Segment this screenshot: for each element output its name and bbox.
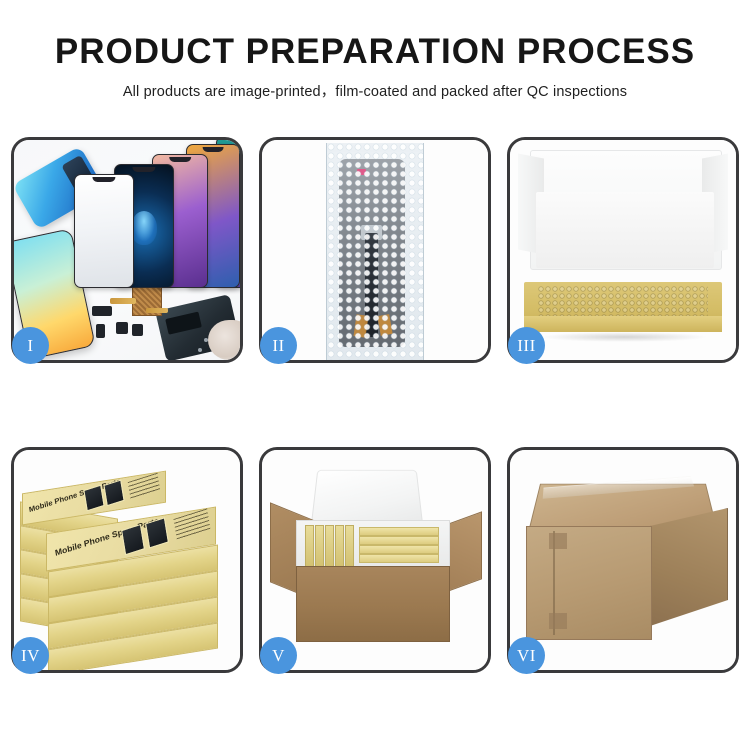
sim-tray-part bbox=[96, 324, 105, 338]
bubble-wrapped-contents bbox=[538, 286, 708, 316]
carton-front-face bbox=[526, 526, 652, 640]
box-shadow bbox=[540, 332, 708, 342]
step-badge-4: IV bbox=[12, 637, 49, 674]
step-panel-1: I bbox=[11, 137, 243, 363]
bubble-wrap-bag bbox=[326, 143, 424, 360]
step-badge-6: VI bbox=[508, 637, 545, 674]
step-badge-3: III bbox=[508, 327, 545, 364]
step-badge-2: II bbox=[260, 327, 297, 364]
bubble-texture bbox=[327, 143, 423, 360]
carton-side-face bbox=[650, 508, 728, 626]
tray-front-panel bbox=[524, 316, 722, 332]
packed-box bbox=[315, 525, 324, 567]
box-stack: Mobile Phone Spare Parts Mobile Phone Sp… bbox=[16, 464, 240, 664]
notch-icon bbox=[203, 147, 224, 152]
carton-tab bbox=[549, 613, 567, 629]
screw-part bbox=[198, 348, 202, 352]
step-panel-4: Mobile Phone Spare Parts Mobile Phone Sp… bbox=[11, 447, 243, 673]
foam-insert bbox=[296, 520, 450, 570]
header: PRODUCT PREPARATION PROCESS All products… bbox=[0, 34, 750, 101]
carton-tab bbox=[549, 533, 567, 549]
step-badge-1: I bbox=[12, 327, 49, 364]
step-image-3 bbox=[510, 140, 736, 360]
carton-body bbox=[296, 566, 450, 642]
infographic-page: PRODUCT PREPARATION PROCESS All products… bbox=[0, 0, 750, 750]
step-panel-3: III bbox=[507, 137, 739, 363]
step-panel-2: II bbox=[259, 137, 491, 363]
packed-box bbox=[345, 525, 354, 567]
process-steps-grid: I II bbox=[11, 137, 739, 673]
page-subtitle: All products are image-printed，film-coat… bbox=[0, 80, 750, 101]
foam-sheet bbox=[536, 192, 714, 268]
packed-box bbox=[305, 525, 314, 567]
packed-box bbox=[335, 525, 344, 567]
packed-box bbox=[359, 554, 439, 563]
page-title: PRODUCT PREPARATION PROCESS bbox=[0, 34, 750, 71]
step-image-4: Mobile Phone Spare Parts Mobile Phone Sp… bbox=[14, 450, 240, 670]
notch-icon bbox=[92, 177, 115, 182]
packed-box bbox=[359, 527, 439, 536]
button-part bbox=[132, 324, 143, 336]
phone-display-1 bbox=[74, 174, 134, 288]
kraft-tray-box bbox=[524, 282, 722, 332]
step-panel-5: V bbox=[259, 447, 491, 673]
step-panel-6: VI bbox=[507, 447, 739, 673]
packed-box bbox=[359, 536, 439, 545]
phone-display-fan bbox=[74, 148, 240, 288]
camera-part bbox=[116, 322, 128, 334]
packed-box bbox=[359, 545, 439, 554]
flex-cable-part bbox=[146, 308, 168, 313]
hand-blur bbox=[208, 320, 240, 360]
step-image-1 bbox=[14, 140, 240, 360]
step-image-2 bbox=[262, 140, 488, 360]
step-image-6 bbox=[510, 450, 736, 670]
sealed-carton bbox=[526, 474, 726, 644]
bracket-part bbox=[92, 306, 112, 316]
step-badge-5: V bbox=[260, 637, 297, 674]
notch-icon bbox=[169, 157, 191, 162]
notch-icon bbox=[132, 167, 155, 172]
step-image-5 bbox=[262, 450, 488, 670]
packed-box bbox=[325, 525, 334, 567]
flex-cable-part bbox=[110, 298, 136, 304]
wallpaper-graphic bbox=[131, 211, 157, 245]
